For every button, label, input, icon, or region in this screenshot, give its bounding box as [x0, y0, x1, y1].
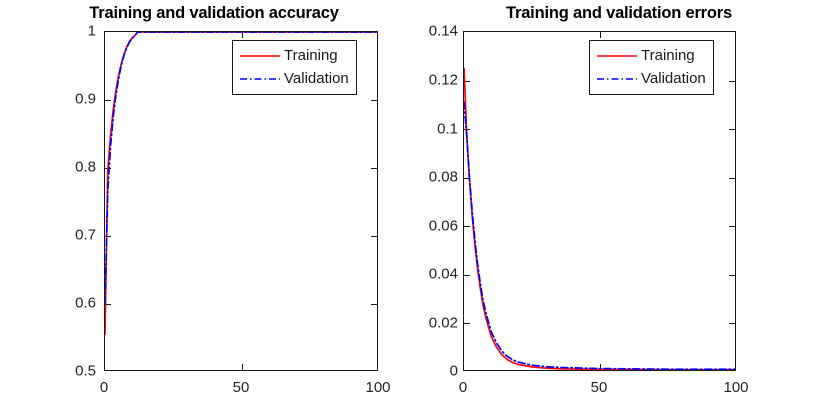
- accuracy-chart-title: Training and validation accuracy: [0, 4, 408, 23]
- errors-xtick-0: 0: [459, 379, 467, 396]
- accuracy-ytick-0.6: 0.6: [44, 295, 96, 312]
- accuracy-ytick-0.9: 0.9: [44, 91, 96, 108]
- accuracy-xtick-0: 0: [100, 379, 108, 396]
- errors-ytick-0.02: 0.02: [408, 315, 458, 332]
- accuracy-legend-item-validation: Validation: [239, 67, 349, 90]
- validation-dashdot-swatch-icon: [239, 72, 281, 86]
- errors-ytick-0.06: 0.06: [408, 218, 458, 235]
- errors-ytick-0.1: 0.1: [408, 121, 458, 138]
- training-line-swatch-icon: [239, 49, 281, 63]
- accuracy-ytick-0.7: 0.7: [44, 227, 96, 244]
- accuracy-ytick-1: 1: [44, 23, 96, 40]
- errors-xtick-50: 50: [591, 379, 608, 396]
- training-line-swatch-icon: [596, 49, 638, 63]
- accuracy-xtick-100: 100: [365, 379, 390, 396]
- panel-accuracy: Training and validation accuracy 1 0.9 0…: [0, 0, 408, 420]
- errors-legend-item-validation: Validation: [596, 67, 706, 90]
- series-line-training: [464, 68, 735, 370]
- errors-ytick-0.14: 0.14: [408, 23, 458, 40]
- accuracy-xtick-50: 50: [233, 379, 250, 396]
- validation-dashdot-swatch-icon: [596, 72, 638, 86]
- accuracy-legend-label-training: Training: [284, 48, 338, 63]
- accuracy-legend-item-training: Training: [239, 44, 349, 67]
- accuracy-legend: Training Validation: [232, 40, 357, 95]
- errors-ytick-0: 0: [408, 363, 458, 380]
- errors-legend-item-training: Training: [596, 44, 706, 67]
- accuracy-legend-label-validation: Validation: [284, 71, 349, 86]
- errors-legend-label-training: Training: [641, 48, 695, 63]
- panel-errors: Training and validation errors 0.14 0.12…: [408, 0, 816, 420]
- series-line-validation: [464, 102, 735, 369]
- errors-legend: Training Validation: [589, 40, 714, 95]
- figure-canvas: Training and validation accuracy 1 0.9 0…: [0, 0, 817, 420]
- errors-chart-title: Training and validation errors: [408, 4, 816, 23]
- errors-ytick-0.08: 0.08: [408, 169, 458, 186]
- accuracy-ytick-0.5: 0.5: [44, 363, 96, 380]
- accuracy-ytick-0.8: 0.8: [44, 159, 96, 176]
- errors-xtick-100: 100: [723, 379, 748, 396]
- errors-ytick-0.04: 0.04: [408, 266, 458, 283]
- errors-legend-label-validation: Validation: [641, 71, 706, 86]
- errors-ytick-0.12: 0.12: [408, 72, 458, 89]
